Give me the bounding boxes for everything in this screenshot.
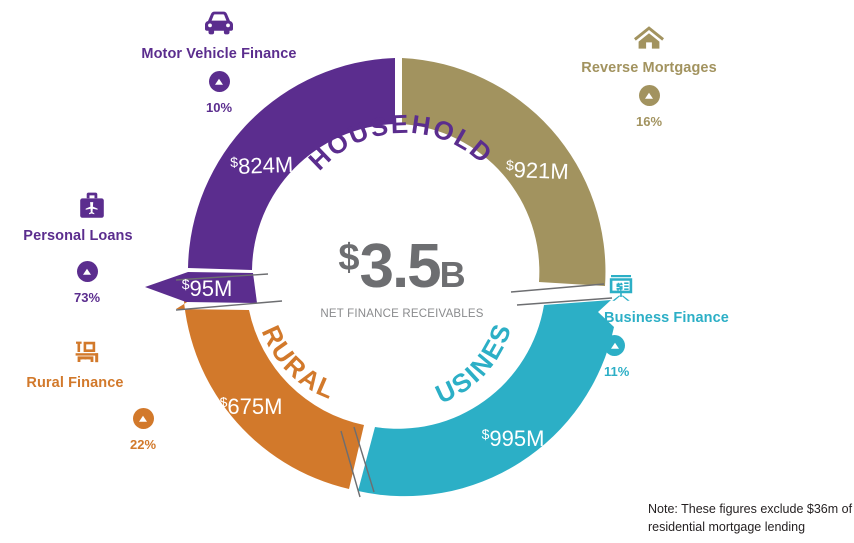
growth-wrap: 16% xyxy=(549,93,749,129)
briefcase-plane-icon xyxy=(6,190,178,224)
footnote-line-1: Note: These figures exclude $36m of xyxy=(648,500,854,518)
legend-rural-finance[interactable]: Rural Finance 22% xyxy=(0,337,175,391)
total-unit: B xyxy=(440,254,466,295)
growth-value: 11% xyxy=(604,364,844,379)
presentation-dollar-icon xyxy=(604,272,844,306)
currency-symbol: $ xyxy=(338,237,359,279)
growth-up-icon xyxy=(209,71,230,92)
growth-up-icon xyxy=(133,408,154,429)
car-icon xyxy=(119,8,319,42)
growth-up-icon xyxy=(639,85,660,106)
infographic-canvas: HOUSEHOLD BUSINESS RURAL $824M $921M $99… xyxy=(0,0,854,543)
growth-wrap: 11% xyxy=(604,343,844,379)
value-label-business-finance: $995M xyxy=(482,426,545,451)
legend-business-finance[interactable]: Business Finance 11% xyxy=(604,272,844,379)
growth-value: 16% xyxy=(549,114,749,129)
growth-wrap: 22% xyxy=(130,399,156,452)
growth-value: 22% xyxy=(130,437,156,452)
legend-label: Reverse Mortgages xyxy=(549,60,749,76)
legend-label: Rural Finance xyxy=(0,375,175,391)
growth-value: 73% xyxy=(74,290,100,305)
growth-up-icon xyxy=(604,335,625,356)
value-label-motor-vehicle-finance: $824M xyxy=(230,152,294,179)
legend-label: Business Finance xyxy=(604,310,844,326)
legend-reverse-mortgages[interactable]: Reverse Mortgages 16% xyxy=(549,22,749,129)
total-amount: $3.5B xyxy=(287,236,517,298)
legend-personal-loans[interactable]: Personal Loans 73% xyxy=(0,190,178,244)
total-caption: NET FINANCE RECEIVABLES xyxy=(287,308,517,320)
legend-motor-vehicle-finance[interactable]: Motor Vehicle Finance 10% xyxy=(119,8,319,115)
legend-label: Motor Vehicle Finance xyxy=(119,46,319,62)
centre-total: $3.5B NET FINANCE RECEIVABLES xyxy=(287,236,517,320)
tractor-icon xyxy=(3,337,175,371)
growth-wrap: 73% xyxy=(74,252,100,305)
value-label-personal-loans: $95M xyxy=(182,276,233,301)
footnote-line-2: residential mortgage lending xyxy=(648,518,854,536)
growth-up-icon xyxy=(77,261,98,282)
growth-wrap: 10% xyxy=(119,79,319,115)
growth-value: 10% xyxy=(119,100,319,115)
legend-label: Personal Loans xyxy=(0,228,178,244)
footnote: Note: These figures exclude $36m of resi… xyxy=(648,500,854,536)
value-label-reverse-mortgages: $921M xyxy=(505,157,569,184)
house-icon xyxy=(549,22,749,56)
total-value: 3.5 xyxy=(359,232,439,301)
value-label-rural-finance: $675M xyxy=(220,394,283,419)
